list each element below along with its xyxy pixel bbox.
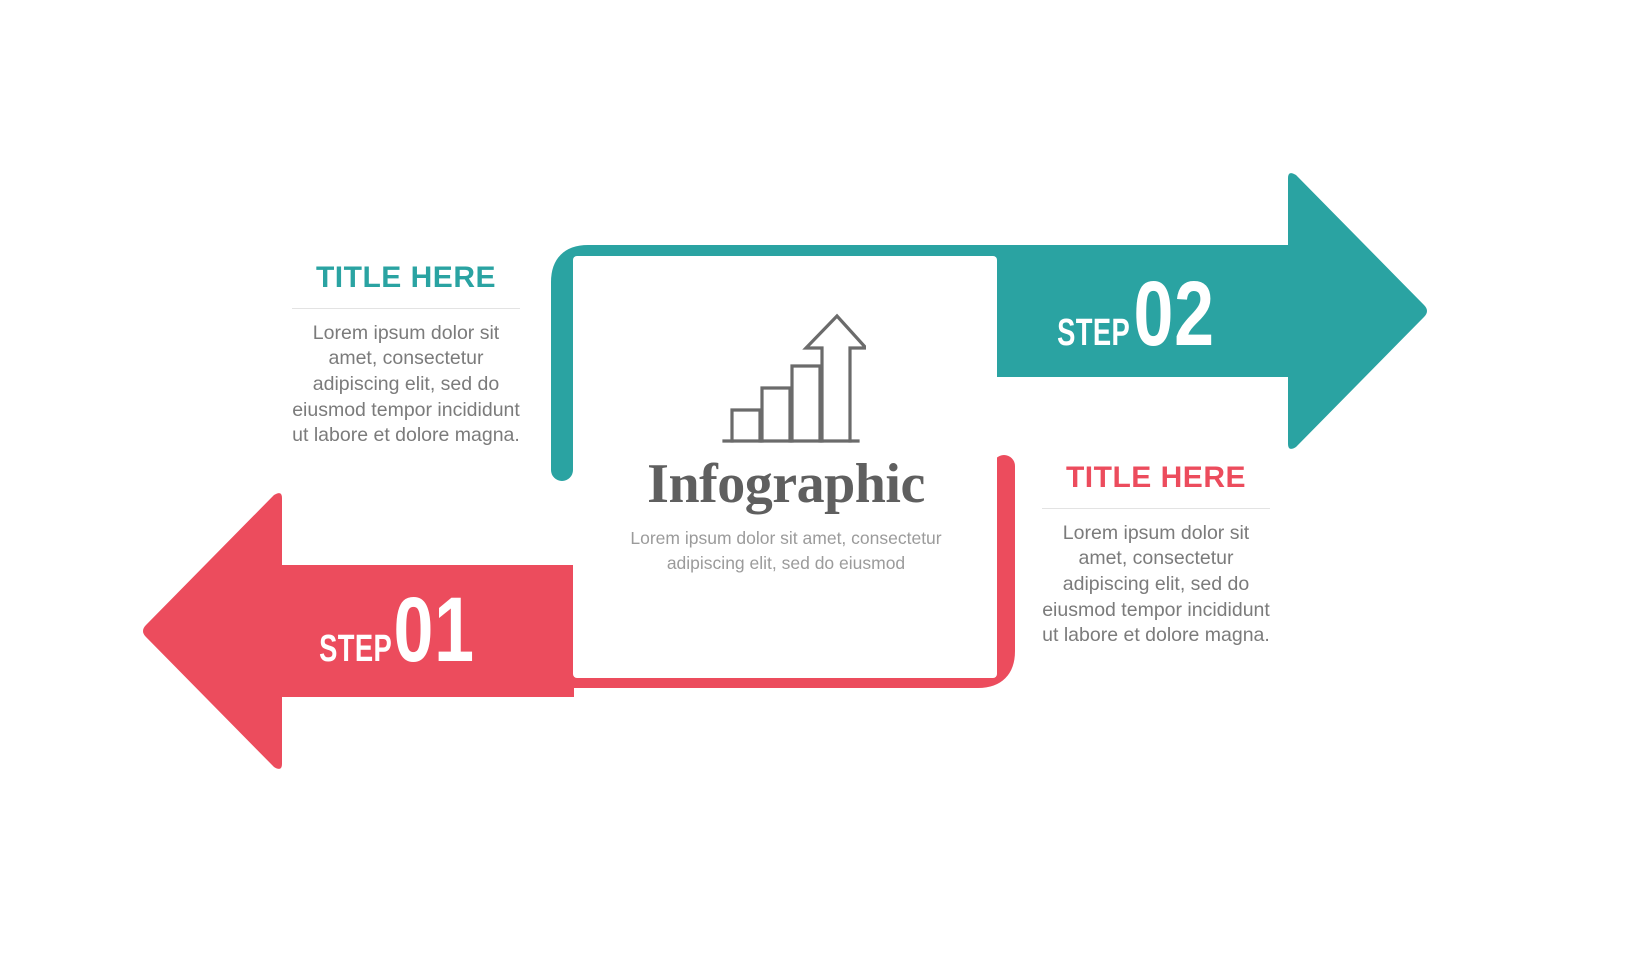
block-left-title: TITLE HERE [292, 262, 520, 294]
infographic-artwork [0, 0, 1633, 980]
block-right-body: Lorem ipsum dolor sit amet, consectetur … [1042, 521, 1270, 650]
block-right-divider [1042, 508, 1270, 509]
content-block-right: TITLE HERE Lorem ipsum dolor sit amet, c… [1042, 462, 1270, 649]
infographic-canvas: Infographic Lorem ipsum dolor sit amet, … [0, 0, 1633, 980]
step-02-arrow[interactable] [996, 173, 1427, 449]
block-right-title: TITLE HERE [1042, 462, 1270, 494]
step-01-arrow[interactable] [143, 493, 574, 769]
content-block-left: TITLE HERE Lorem ipsum dolor sit amet, c… [292, 262, 520, 449]
block-left-body: Lorem ipsum dolor sit amet, consectetur … [292, 321, 520, 450]
block-left-divider [292, 308, 520, 309]
center-white-panel [573, 256, 997, 678]
